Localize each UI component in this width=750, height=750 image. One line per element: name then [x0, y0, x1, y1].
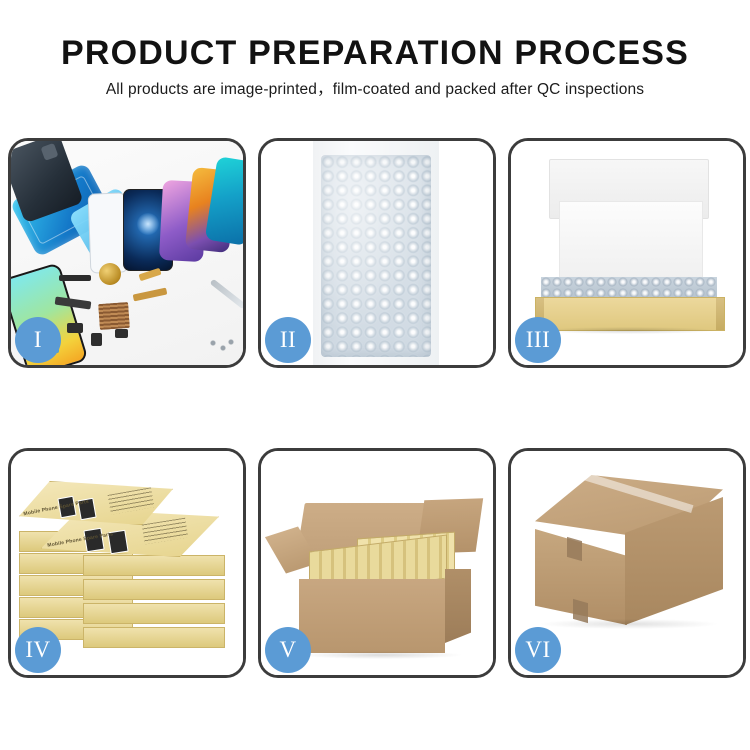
process-step-panel-4: Mobile Phone Spare Parts Mobile Phone Sp…: [8, 448, 246, 678]
step-badge-5: V: [265, 627, 311, 673]
vibrator-motor-icon: [115, 329, 128, 338]
box-shadow: [543, 327, 715, 334]
page-header: PRODUCT PREPARATION PROCESS All products…: [0, 0, 750, 101]
process-step-grid: I II III: [8, 138, 742, 678]
page-title: PRODUCT PREPARATION PROCESS: [0, 32, 750, 74]
carton-tape-tab-upper: [567, 537, 582, 561]
carton-front-face-icon: [299, 579, 445, 653]
bubble-wrap-icon: [321, 155, 431, 357]
product-preparation-page: PRODUCT PREPARATION PROCESS All products…: [0, 0, 750, 750]
screws-icon: [209, 339, 235, 353]
process-step-panel-3: III: [508, 138, 746, 368]
carton-shadow: [301, 651, 461, 659]
step-badge-3: III: [515, 317, 561, 363]
stacked-box-r4: [83, 603, 225, 624]
stacked-box-r5: [83, 627, 225, 648]
step-badge-4: IV: [15, 627, 61, 673]
process-step-panel-1: I: [8, 138, 246, 368]
process-step-panel-5: V: [258, 448, 496, 678]
stacked-box-r2: [83, 555, 225, 576]
component-chip-icon: [67, 323, 83, 333]
speaker-coil-icon: [99, 263, 121, 285]
sealed-carton-shadow: [541, 619, 717, 629]
kraft-box-front-icon: [535, 297, 725, 331]
camera-module-icon: [91, 333, 102, 346]
page-subtitle: All products are image-printed，film-coat…: [0, 79, 750, 101]
step-badge-2: II: [265, 317, 311, 363]
process-step-panel-2: II: [258, 138, 496, 368]
stacked-box-r3: [83, 579, 225, 600]
earpiece-mesh-icon: [59, 275, 91, 281]
step-badge-6: VI: [515, 627, 561, 673]
foam-sheet-icon: [559, 201, 703, 281]
step-badge-1: I: [15, 317, 61, 363]
process-step-panel-6: VI: [508, 448, 746, 678]
carton-side-face-icon: [445, 569, 471, 643]
chip-grid-icon: [98, 302, 130, 330]
bubble-wrapped-contents-icon: [541, 277, 717, 299]
